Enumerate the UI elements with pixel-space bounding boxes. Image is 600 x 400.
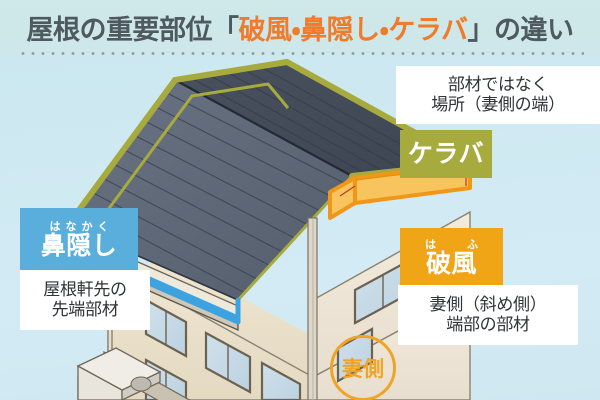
callout-hafu-line-2: 端部の部材 bbox=[446, 315, 530, 335]
tsumagawa-badge: 妻側 bbox=[330, 335, 396, 400]
callout-hafu-description: 妻側（斜め側） 端部の部材 bbox=[398, 285, 578, 345]
callout-hafu-line-1: 妻側（斜め側） bbox=[430, 295, 547, 315]
tsumagawa-badge-label: 妻側 bbox=[342, 353, 384, 383]
callout-hafu-tag: は ふ 破風 bbox=[400, 228, 503, 286]
callout-hafu-label: 破風 bbox=[426, 251, 477, 277]
callout-hanakakushi-label: 鼻隠し bbox=[41, 233, 118, 259]
downspout bbox=[308, 218, 317, 400]
callout-hanakakushi-line-1: 屋根軒先の bbox=[43, 280, 127, 300]
callout-hanakakushi-line-2: 先端部材 bbox=[52, 300, 119, 320]
diagram-canvas: 屋根の重要部位「破風・鼻隠し・ケラバ」の違い bbox=[0, 0, 600, 400]
callout-hanakakushi-description: 屋根軒先の 先端部材 bbox=[20, 270, 150, 330]
callout-keraba-line-2: 場所（妻側の端） bbox=[431, 95, 565, 115]
callout-keraba-label: ケラバ bbox=[408, 141, 484, 167]
callout-keraba-description: 部材ではなく 場所（妻側の端） bbox=[396, 66, 600, 124]
callout-keraba-tag: ケラバ bbox=[400, 130, 492, 178]
callout-hanakakushi-tag: はなかく 鼻隠し bbox=[20, 208, 138, 270]
callout-keraba-line-1: 部材ではなく bbox=[448, 75, 548, 95]
